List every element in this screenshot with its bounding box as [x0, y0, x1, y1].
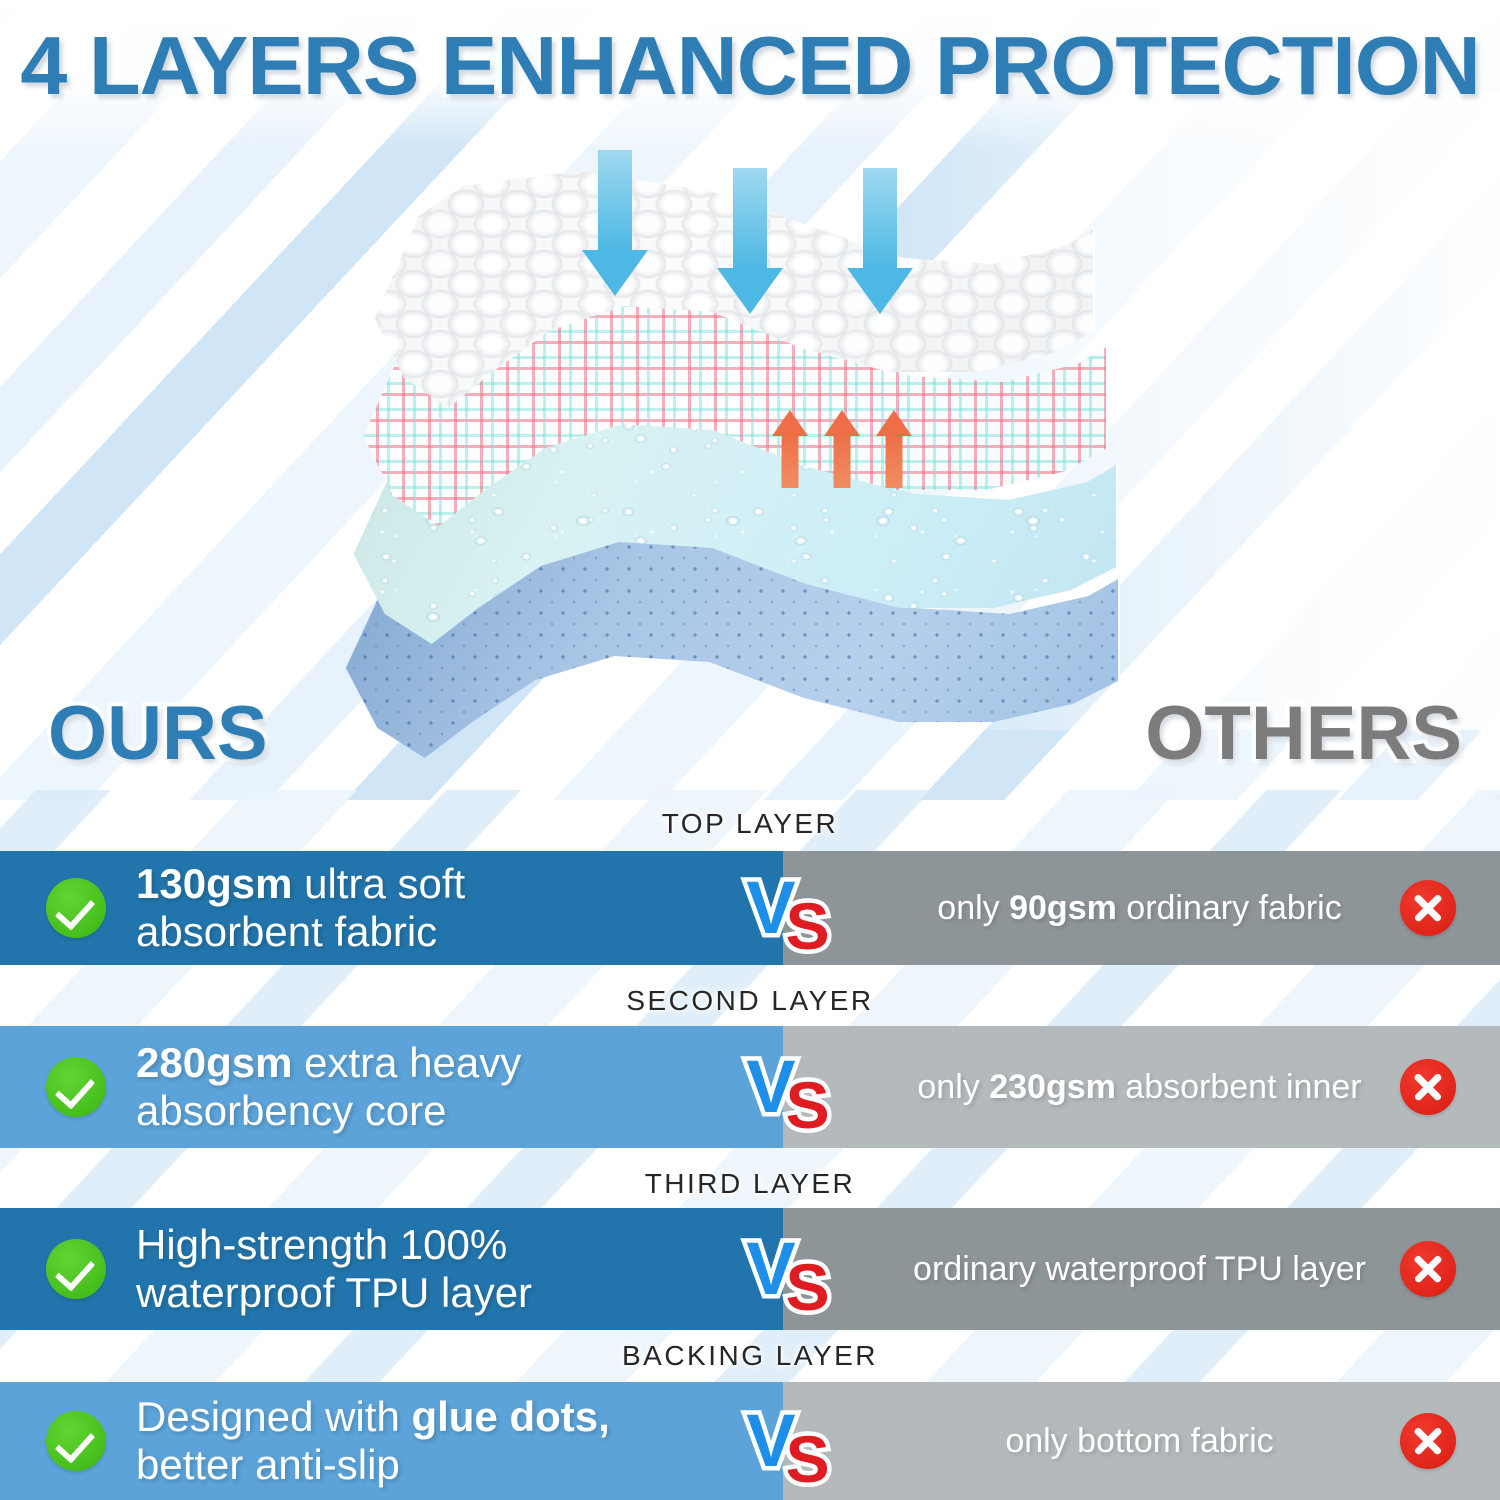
comparison-row-third-layer: High-strength 100% waterproof TPU layer …: [0, 1208, 1500, 1330]
ours-text-second-layer: 280gsm extra heavy absorbency core: [136, 1039, 521, 1135]
ours-text-backing-layer: Designed with glue dots, better anti-sli…: [136, 1393, 610, 1489]
ours-bold-top: 130gsm: [136, 860, 292, 907]
others-cell-top-layer: only 90gsm ordinary fabric: [783, 851, 1500, 965]
ours-line2-third: waterproof TPU layer: [136, 1269, 532, 1317]
absorption-arrow-1: [580, 150, 650, 300]
others-post-backing: only bottom fabric: [1005, 1422, 1273, 1460]
column-heading-ours: OURS: [48, 690, 268, 777]
ours-cell-backing-layer: Designed with glue dots, better anti-sli…: [0, 1382, 783, 1500]
product-layers-illustration: [330, 140, 1130, 740]
comparison-row-second-layer: 280gsm extra heavy absorbency core only …: [0, 1026, 1500, 1148]
absorption-arrow-3: [845, 168, 915, 318]
ours-rest-top: ultra soft: [292, 860, 465, 907]
others-post-second: absorbent inner: [1116, 1068, 1362, 1106]
others-pre-top: only: [937, 889, 1009, 927]
vs-badge: VS: [746, 1050, 819, 1124]
others-text-second-layer: only 230gsm absorbent inner: [783, 1067, 1400, 1108]
vs-badge: VS: [746, 1232, 819, 1306]
others-bold-second: 230gsm: [989, 1068, 1116, 1106]
comparison-row-backing-layer: Designed with glue dots, better anti-sli…: [0, 1382, 1500, 1500]
ours-rest-backing: Designed with: [136, 1393, 411, 1440]
vs-letter-v: V: [746, 1045, 785, 1128]
vs-letter-v: V: [746, 1227, 785, 1310]
page-title: 4 LAYERS ENHANCED PROTECTION: [0, 18, 1500, 114]
others-bold-top: 90gsm: [1009, 889, 1117, 927]
ours-line2-backing: better anti-slip: [136, 1441, 610, 1489]
green-check-icon: [46, 1057, 106, 1117]
vs-letter-v: V: [746, 866, 785, 949]
ours-line2-top: absorbent fabric: [136, 908, 465, 956]
infographic-canvas: 4 LAYERS ENHANCED PROTECTION: [0, 0, 1500, 1500]
red-x-icon: [1400, 880, 1456, 936]
layer-tag-backing: BACKING LAYER: [0, 1340, 1500, 1372]
green-check-icon: [46, 878, 106, 938]
others-cell-backing-layer: only bottom fabric: [783, 1382, 1500, 1500]
comparison-row-top-layer: 130gsm ultra soft absorbent fabric only …: [0, 851, 1500, 965]
layer-tag-top: TOP LAYER: [0, 808, 1500, 840]
layer-tag-second: SECOND LAYER: [0, 985, 1500, 1017]
absorption-arrow-2: [715, 168, 785, 318]
ours-cell-top-layer: 130gsm ultra soft absorbent fabric: [0, 851, 783, 965]
vs-badge: VS: [746, 871, 819, 945]
red-x-icon: [1400, 1413, 1456, 1469]
red-x-icon: [1400, 1241, 1456, 1297]
ours-cell-third-layer: High-strength 100% waterproof TPU layer: [0, 1208, 783, 1330]
ours-line2-second: absorbency core: [136, 1087, 521, 1135]
others-text-top-layer: only 90gsm ordinary fabric: [783, 888, 1400, 929]
others-post-third: ordinary waterproof TPU layer: [913, 1250, 1366, 1288]
column-heading-others: OTHERS: [1145, 690, 1462, 777]
green-check-icon: [46, 1411, 106, 1471]
ours-bold-second: 280gsm: [136, 1039, 292, 1086]
ours-cell-second-layer: 280gsm extra heavy absorbency core: [0, 1026, 783, 1148]
others-text-backing-layer: only bottom fabric: [783, 1421, 1400, 1462]
others-pre-second: only: [917, 1068, 989, 1106]
ours-text-third-layer: High-strength 100% waterproof TPU layer: [136, 1221, 532, 1317]
vs-letter-s: S: [786, 1250, 820, 1324]
ours-rest-third: High-strength 100%: [136, 1221, 507, 1268]
vs-letter-s: S: [786, 1422, 820, 1496]
ours-text-top-layer: 130gsm ultra soft absorbent fabric: [136, 860, 465, 956]
red-x-icon: [1400, 1059, 1456, 1115]
others-cell-second-layer: only 230gsm absorbent inner: [783, 1026, 1500, 1148]
others-text-third-layer: ordinary waterproof TPU layer: [783, 1249, 1400, 1290]
others-post-top: ordinary fabric: [1117, 889, 1342, 927]
vs-badge: VS: [746, 1404, 819, 1478]
ours-rest-second: extra heavy: [292, 1039, 521, 1086]
vs-letter-s: S: [786, 889, 820, 963]
others-cell-third-layer: ordinary waterproof TPU layer: [783, 1208, 1500, 1330]
green-check-icon: [46, 1239, 106, 1299]
vs-letter-v: V: [746, 1399, 785, 1482]
vs-letter-s: S: [786, 1068, 820, 1142]
layer-tag-third: THIRD LAYER: [0, 1168, 1500, 1200]
ours-bold2-backing: glue dots,: [411, 1393, 609, 1440]
